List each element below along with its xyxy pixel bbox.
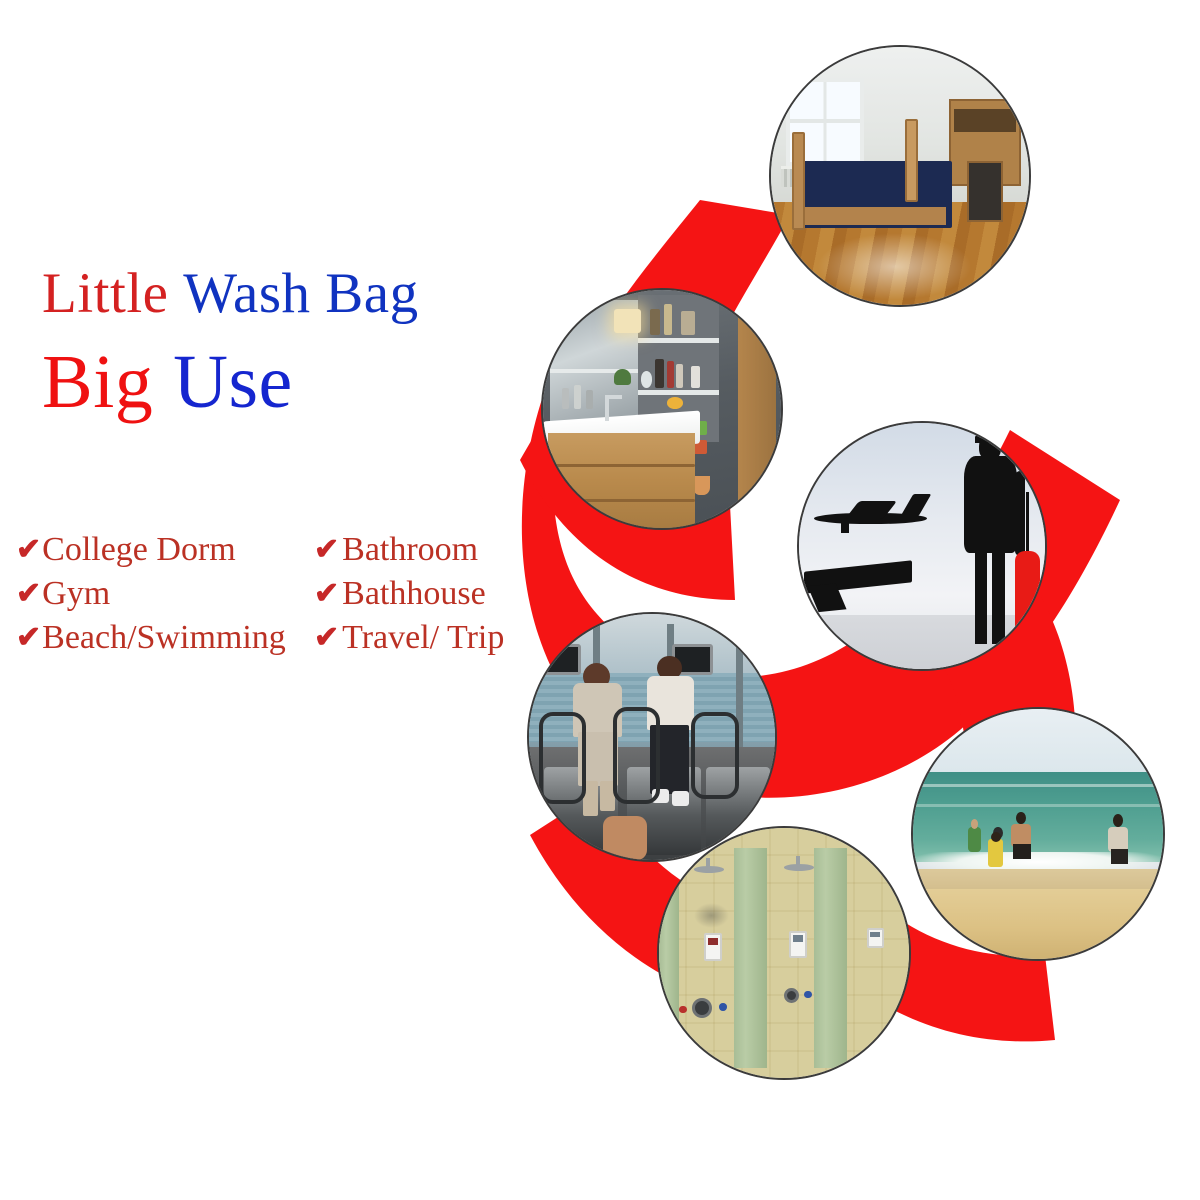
- airplane-landing-gear: [841, 523, 849, 533]
- beach-swimmer-head: [1016, 812, 1026, 825]
- dorm-chair: [967, 161, 1003, 223]
- shower-nozzle: [784, 864, 814, 871]
- shower-valve[interactable]: [692, 998, 712, 1018]
- feature-label: Bathhouse: [342, 572, 486, 615]
- bathroom-stool: [553, 492, 574, 521]
- feature-item-college-dorm: ✔ College Dorm: [16, 528, 314, 572]
- beach-beachgoer-body: [1108, 827, 1128, 852]
- treadmill-monitor: [539, 644, 581, 676]
- feature-column-left: ✔ College Dorm ✔ Gym ✔ Beach/Swimming: [16, 528, 314, 660]
- gym-person-shoe: [672, 791, 689, 806]
- card-reader-display: [708, 938, 718, 945]
- feature-label: Bathroom: [342, 528, 478, 571]
- airplane-tail: [900, 494, 931, 516]
- feature-label: Gym: [42, 572, 110, 615]
- traveler-silhouette: [954, 433, 1028, 645]
- red-suitcase: [1015, 551, 1040, 636]
- travel-airport-photo: [797, 421, 1047, 671]
- shower-head-icon: [784, 856, 814, 871]
- bathroom-bottle: [691, 366, 701, 387]
- feature-item-bathroom: ✔ Bathroom: [314, 528, 544, 572]
- headline-line-2: BigUse: [42, 336, 562, 428]
- bathhouse-wall-smudge: [694, 903, 729, 928]
- bathhouse-divider: [814, 848, 847, 1068]
- headline-word-use: Use: [173, 340, 293, 424]
- dorm-desk-shelf: [954, 109, 1016, 132]
- dorm-floor-highlight: [817, 233, 972, 300]
- shower-card-reader[interactable]: [867, 928, 885, 948]
- bathroom-bottle: [655, 359, 665, 388]
- beach-scene: [913, 709, 1163, 959]
- shower-card-reader[interactable]: [704, 933, 722, 961]
- shower-nozzle: [694, 866, 724, 873]
- feature-label: Beach/Swimming: [42, 616, 286, 659]
- cold-water-knob[interactable]: [804, 991, 812, 999]
- beach-swimmer-shorts: [1013, 844, 1031, 859]
- suitcase-handle: [1026, 492, 1029, 555]
- traveler-leg-right: [992, 547, 1005, 644]
- card-reader-display: [793, 935, 803, 942]
- feature-list: ✔ College Dorm ✔ Gym ✔ Beach/Swimming ✔ …: [16, 528, 546, 660]
- check-icon: ✔: [16, 616, 41, 659]
- bathroom-bottle: [676, 364, 683, 388]
- beach-wave-line: [913, 804, 1163, 807]
- gym-foreground-person: [603, 816, 647, 860]
- suitcase-handle: [1020, 492, 1023, 555]
- bathhouse-divider: [734, 848, 767, 1068]
- beach-child-head: [991, 832, 1001, 842]
- beach-swimmer: [968, 827, 981, 852]
- check-icon: ✔: [16, 572, 41, 615]
- check-icon: ✔: [314, 616, 339, 659]
- check-icon: ✔: [314, 572, 339, 615]
- feature-column-right: ✔ Bathroom ✔ Bathhouse ✔ Travel/ Trip: [314, 528, 544, 660]
- infographic-page: LittleWash Bag BigUse ✔ College Dorm ✔ G…: [0, 0, 1200, 1200]
- check-icon: ✔: [314, 528, 339, 571]
- bathroom-bottle: [574, 385, 581, 409]
- feature-item-gym: ✔ Gym: [16, 572, 314, 616]
- treadmill-handrail: [691, 712, 738, 799]
- airplane-icon: [814, 497, 927, 536]
- beach-sky: [913, 709, 1163, 772]
- bathroom-tall-cabinet: [738, 295, 776, 523]
- bathroom-vanity-photo: [541, 288, 783, 530]
- bathroom-scene: [543, 290, 781, 528]
- gym-treadmill-photo: [527, 612, 777, 862]
- feature-item-travel-trip: ✔ Travel/ Trip: [314, 616, 544, 660]
- shower-card-reader[interactable]: [789, 931, 807, 959]
- dorm-bed-frame: [797, 207, 947, 225]
- check-icon: ✔: [16, 528, 41, 571]
- bathroom-bottle: [562, 388, 569, 409]
- bathroom-bottle: [664, 304, 671, 335]
- beach-swimming-photo: [911, 707, 1165, 961]
- college-dorm-room-photo: [769, 45, 1031, 307]
- beach-swimmer-head: [971, 819, 979, 829]
- headline-block: LittleWash Bag BigUse: [42, 258, 562, 428]
- bathroom-plant: [614, 369, 631, 386]
- dorm-bed-rail-left: [792, 132, 805, 230]
- traveler-leg-left: [975, 547, 988, 644]
- beach-beachgoer-shorts: [1111, 849, 1129, 864]
- bathroom-jar: [641, 371, 653, 388]
- gym-scene: [529, 614, 775, 860]
- feature-label: College Dorm: [42, 528, 236, 571]
- feature-item-beach-swimming: ✔ Beach/Swimming: [16, 616, 314, 660]
- beach-child: [988, 839, 1003, 867]
- bathroom-fruit-basket: [693, 476, 710, 495]
- bathroom-shelf-lower: [638, 390, 719, 395]
- dorm-scene: [771, 47, 1029, 305]
- feature-item-bathhouse: ✔ Bathhouse: [314, 572, 544, 616]
- beach-sand: [913, 889, 1163, 959]
- headline-line-1: LittleWash Bag: [42, 258, 562, 330]
- treadmill-handrail: [613, 707, 660, 804]
- feature-label: Travel/ Trip: [342, 616, 504, 659]
- hot-water-knob[interactable]: [679, 1006, 687, 1014]
- bathroom-bottle: [650, 309, 660, 335]
- bathroom-bottle: [586, 390, 593, 409]
- beach-beachgoer-head: [1113, 814, 1123, 827]
- treadmill-handrail: [539, 712, 586, 804]
- headline-word-big: Big: [42, 340, 153, 424]
- bathhouse-showers-photo: [657, 826, 911, 1080]
- dorm-bed-rail-right: [905, 119, 918, 202]
- bathroom-basket: [681, 311, 695, 335]
- shower-head-icon: [694, 858, 724, 873]
- headline-word-wash-bag: Wash Bag: [183, 262, 418, 325]
- bathhouse-scene: [659, 828, 909, 1078]
- bathroom-shelf-upper: [638, 338, 719, 343]
- travel-scene: [799, 423, 1045, 669]
- traveler-torso: [964, 456, 1017, 553]
- shower-valve[interactable]: [784, 988, 799, 1003]
- bathroom-faucet: [605, 395, 609, 421]
- bathroom-lamp: [614, 309, 640, 333]
- bathroom-drawer-line: [548, 464, 696, 467]
- headline-word-little: Little: [42, 262, 168, 325]
- bathroom-bottle: [667, 361, 674, 387]
- cold-water-knob[interactable]: [719, 1003, 727, 1011]
- card-reader-display: [870, 932, 880, 937]
- beach-wave-line: [913, 784, 1163, 787]
- bathhouse-divider: [659, 838, 679, 1073]
